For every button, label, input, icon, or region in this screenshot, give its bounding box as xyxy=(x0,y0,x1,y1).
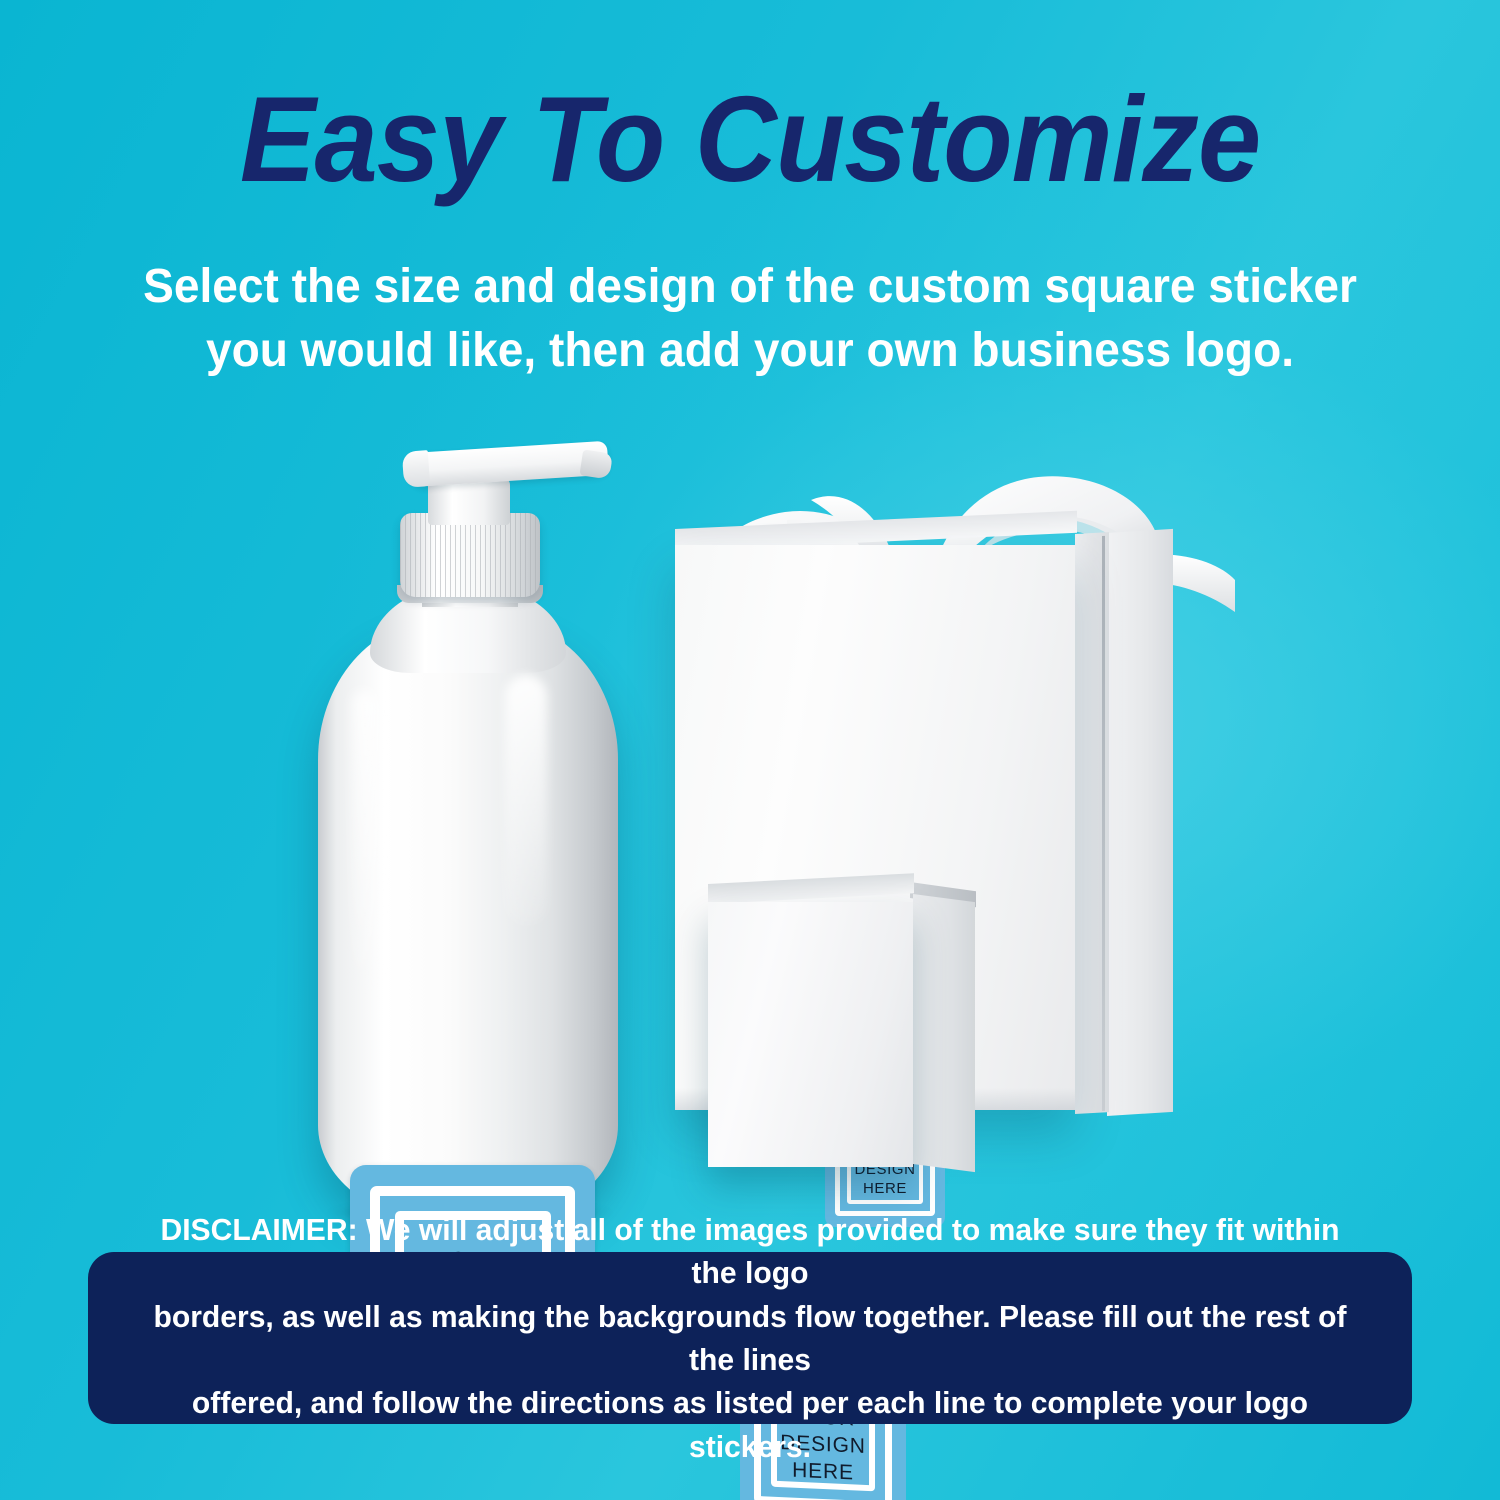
disclaimer-line-1: DISCLAIMER: We will adjust all of the im… xyxy=(149,1208,1352,1295)
small-box-front-panel xyxy=(708,902,913,1167)
gift-box-back-panel xyxy=(1107,529,1173,1116)
bottle-highlight-right xyxy=(505,675,547,925)
bottle-highlight-left xyxy=(352,690,378,990)
subtitle-line-1: Select the size and design of the custom… xyxy=(136,255,1365,319)
disclaimer-line-2: borders, as well as making the backgroun… xyxy=(149,1295,1352,1382)
sticker-text-line-3: HERE xyxy=(825,1179,945,1198)
product-mockup-stage: YOUR DESIGN HERE YOUR DESIGN HERE xyxy=(0,390,1500,1260)
promo-graphic: Easy To Customize Select the size and de… xyxy=(0,0,1500,1500)
disclaimer-text: DISCLAIMER: We will adjust all of the im… xyxy=(149,1208,1352,1468)
subtitle: Select the size and design of the custom… xyxy=(136,255,1365,383)
page-title: Easy To Customize xyxy=(53,78,1448,200)
small-box-side-panel xyxy=(913,894,975,1172)
disclaimer-banner: DISCLAIMER: We will adjust all of the im… xyxy=(88,1252,1412,1424)
subtitle-line-2: you would like, then add your own busine… xyxy=(136,319,1365,383)
small-carton-box xyxy=(708,890,983,1175)
disclaimer-line-3: offered, and follow the directions as li… xyxy=(149,1381,1352,1468)
pump-collar-ribbed[interactable] xyxy=(400,513,540,597)
pump-bottle xyxy=(300,425,640,1235)
pump-nozzle[interactable] xyxy=(407,441,609,487)
gift-box-seam xyxy=(1102,536,1105,1111)
pump-nozzle-hook xyxy=(402,450,430,488)
